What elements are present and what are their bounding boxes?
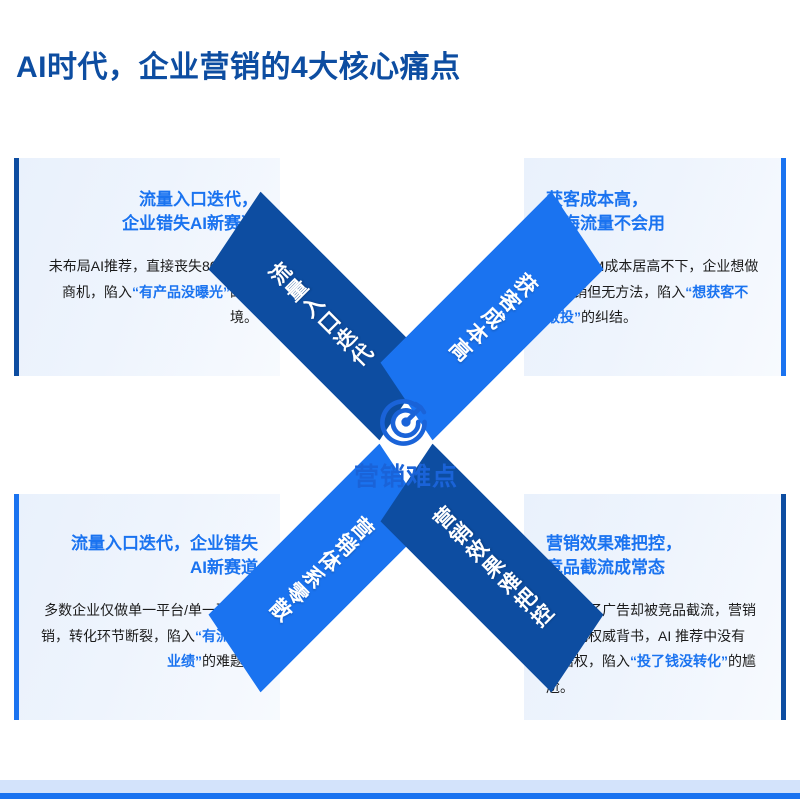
pain-point-diamond: 流量入口迭代 获客成本高 营销体系零散 营销效果难把控 营销难点	[238, 186, 574, 706]
card-body-highlight: “有产品没曝光”	[132, 284, 230, 300]
diamond-top-gap	[402, 186, 411, 282]
card-title: 获客成本高， 蓝海流量不会用	[546, 188, 759, 236]
card-body-post: 的纠结。	[581, 309, 637, 325]
diamond-bar-label: 流量入口迭代	[261, 257, 380, 376]
diamond-bar-label: 营销体系零散	[261, 509, 380, 628]
diamond-bottom-gap	[402, 608, 411, 706]
card-title: 流量入口迭代，企业错失 AI新赛道	[41, 532, 258, 580]
card-title: 营销效果难把控， 竞品截流成常态	[546, 532, 759, 580]
diamond-center-hub: 营销难点	[326, 364, 486, 524]
footer-band-soft	[0, 780, 800, 793]
hub-label: 营销难点	[354, 457, 458, 493]
card-body-highlight: “投了钱没转化”	[630, 653, 728, 669]
card-title: 流量入口迭代， 企业错失AI新赛道	[41, 188, 258, 236]
diamond-bar-label: 获客成本高	[441, 265, 544, 368]
target-arrow-icon	[379, 395, 433, 449]
footer-band-accent	[0, 793, 800, 799]
page-title: AI时代，企业营销的4大核心痛点	[16, 42, 461, 86]
card-title-line-1: 流量入口迭代，企业错失	[71, 534, 258, 553]
